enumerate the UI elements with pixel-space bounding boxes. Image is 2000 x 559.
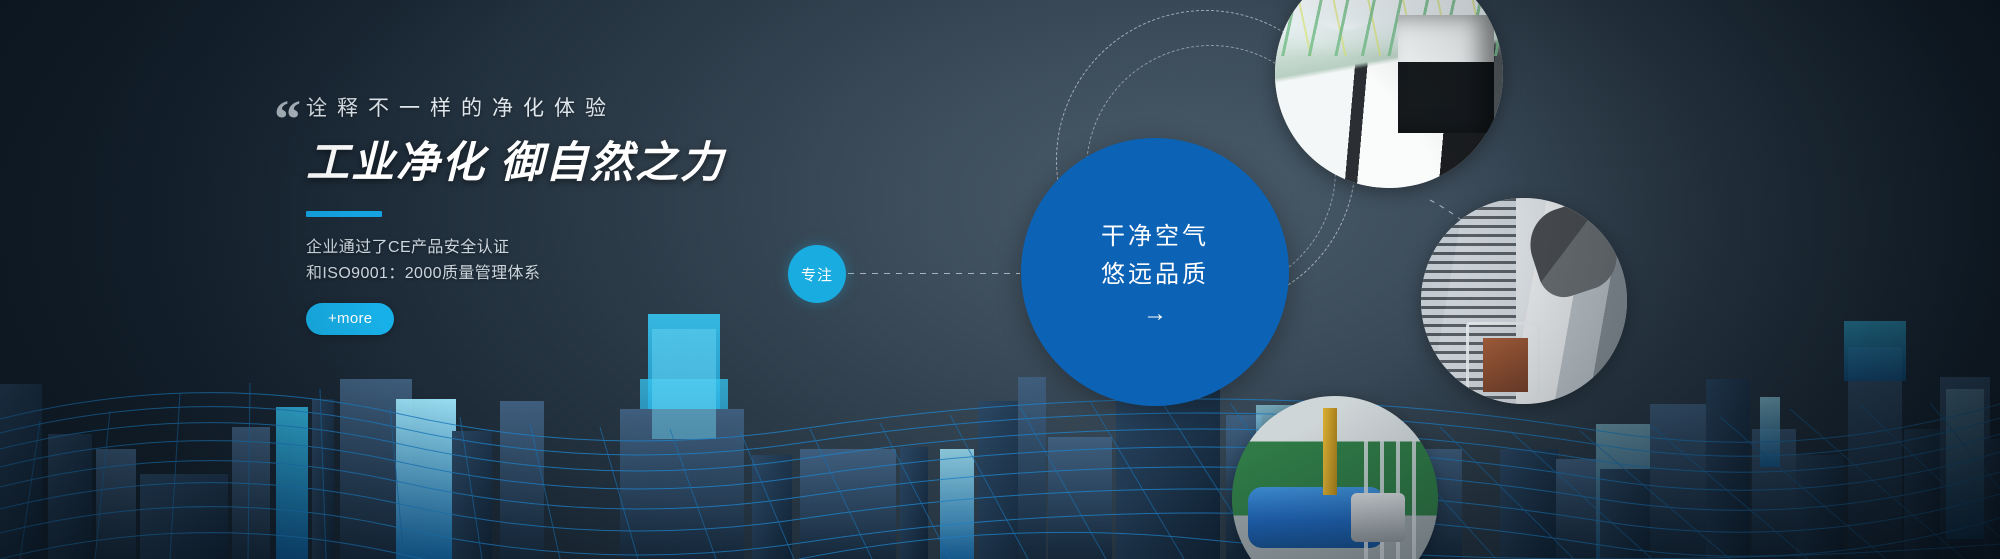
factory-hall-photo-image	[1275, 0, 1503, 188]
hero-text-block: “ 诠释不一样的净化体验 工业净化 御自然之力 企业通过了CE产品安全认证 和I…	[306, 96, 926, 335]
more-button[interactable]: +more	[306, 303, 394, 335]
arrow-right-icon[interactable]: →	[1143, 302, 1167, 326]
main-circle-line-2: 悠远品质	[1101, 256, 1209, 294]
city-skyline-graphic	[0, 259, 2000, 559]
textile-machinery-photo-image	[1421, 198, 1627, 404]
main-slogan-circle[interactable]: 干净空气 悠远品质 →	[1021, 138, 1289, 406]
hero-body-line-1: 企业通过了CE产品安全认证	[306, 235, 926, 261]
background-noise-overlay	[0, 0, 2000, 559]
pressure-vessel-photo[interactable]	[1232, 396, 1438, 559]
wireframe-terrain-graphic	[0, 359, 2000, 559]
rail-detail	[1466, 322, 1540, 396]
hero-eyebrow: 诠释不一样的净化体验	[306, 96, 926, 121]
pressure-vessel-photo-image	[1232, 396, 1438, 559]
hero-banner: 干净空气 悠远品质 → 专注 “ 诠释不一样的净化体验 工业净化 御自然之力 企…	[0, 0, 2000, 559]
quote-mark-icon: “	[274, 92, 301, 146]
factory-hall-photo[interactable]	[1275, 0, 1503, 188]
main-circle-line-1: 干净空气	[1101, 218, 1209, 256]
hero-body-text: 企业通过了CE产品安全认证 和ISO9001：2000质量管理体系	[306, 235, 926, 288]
hero-headline: 工业净化 御自然之力	[306, 139, 926, 188]
textile-machinery-photo[interactable]	[1421, 198, 1627, 404]
accent-rule	[306, 211, 382, 217]
vignette-overlay	[0, 0, 2000, 559]
valve-detail	[1323, 408, 1337, 495]
pipe-bars-detail	[1364, 437, 1426, 559]
hero-body-line-2: 和ISO9001：2000质量管理体系	[306, 261, 926, 287]
